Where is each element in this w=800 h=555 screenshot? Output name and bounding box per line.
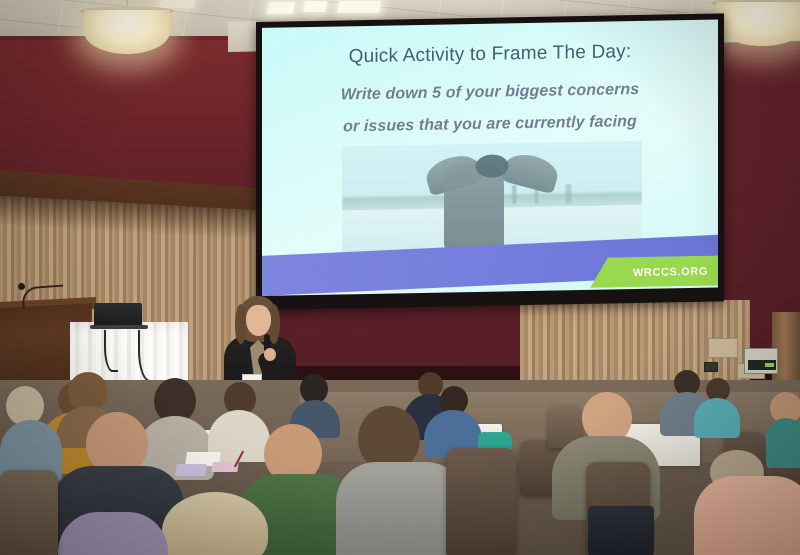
microphone-head-icon xyxy=(18,283,25,290)
presenter-hair-left xyxy=(235,304,247,344)
attendee-body xyxy=(694,398,740,438)
slide-footer-text: WRCCS.ORG xyxy=(633,266,708,279)
slide-body-line-1: Write down 5 of your biggest concerns xyxy=(262,80,718,106)
wall-plaque-upper xyxy=(708,338,738,358)
attendee-far-right xyxy=(694,378,740,434)
attendee-right-edge xyxy=(766,392,800,462)
presenter-face xyxy=(246,305,271,336)
laptop-base xyxy=(90,325,148,329)
left-wall xyxy=(0,40,262,188)
attendee-foreground-blonde xyxy=(152,492,292,555)
pendant-bowl xyxy=(716,2,800,46)
pendant-bowl xyxy=(84,10,170,54)
slide-body-line-2: or issues that you are currently facing xyxy=(262,112,718,138)
attendee-lavender xyxy=(58,512,168,555)
slide-photo xyxy=(342,141,642,252)
slide-title: Quick Activity to Frame The Day: xyxy=(262,40,718,70)
slide-surface: Quick Activity to Frame The Day: Write d… xyxy=(262,20,718,296)
av-control-panel xyxy=(744,348,778,374)
attendee-body xyxy=(58,512,168,555)
attendee-body xyxy=(766,418,800,468)
conference-room-photo: Quick Activity to Frame The Day: Write d… xyxy=(0,0,800,555)
laptop-bag xyxy=(588,506,654,555)
chair-foreground-3 xyxy=(0,470,58,555)
projection-screen: Quick Activity to Frame The Day: Write d… xyxy=(256,13,724,310)
control-panel-display xyxy=(748,360,776,370)
ceiling-panel-light-2 xyxy=(303,1,327,12)
presentation-laptop xyxy=(94,303,142,327)
ceiling-panel-light-1 xyxy=(267,2,295,14)
chair-foreground-1 xyxy=(446,448,516,555)
ceiling-panel-light-3 xyxy=(337,1,381,13)
av-cable-left xyxy=(104,330,118,372)
ceiling-panel-light-4 xyxy=(159,0,194,8)
attendee-head xyxy=(162,492,268,555)
presenter-hand xyxy=(264,348,276,361)
attendee-body xyxy=(694,476,800,555)
